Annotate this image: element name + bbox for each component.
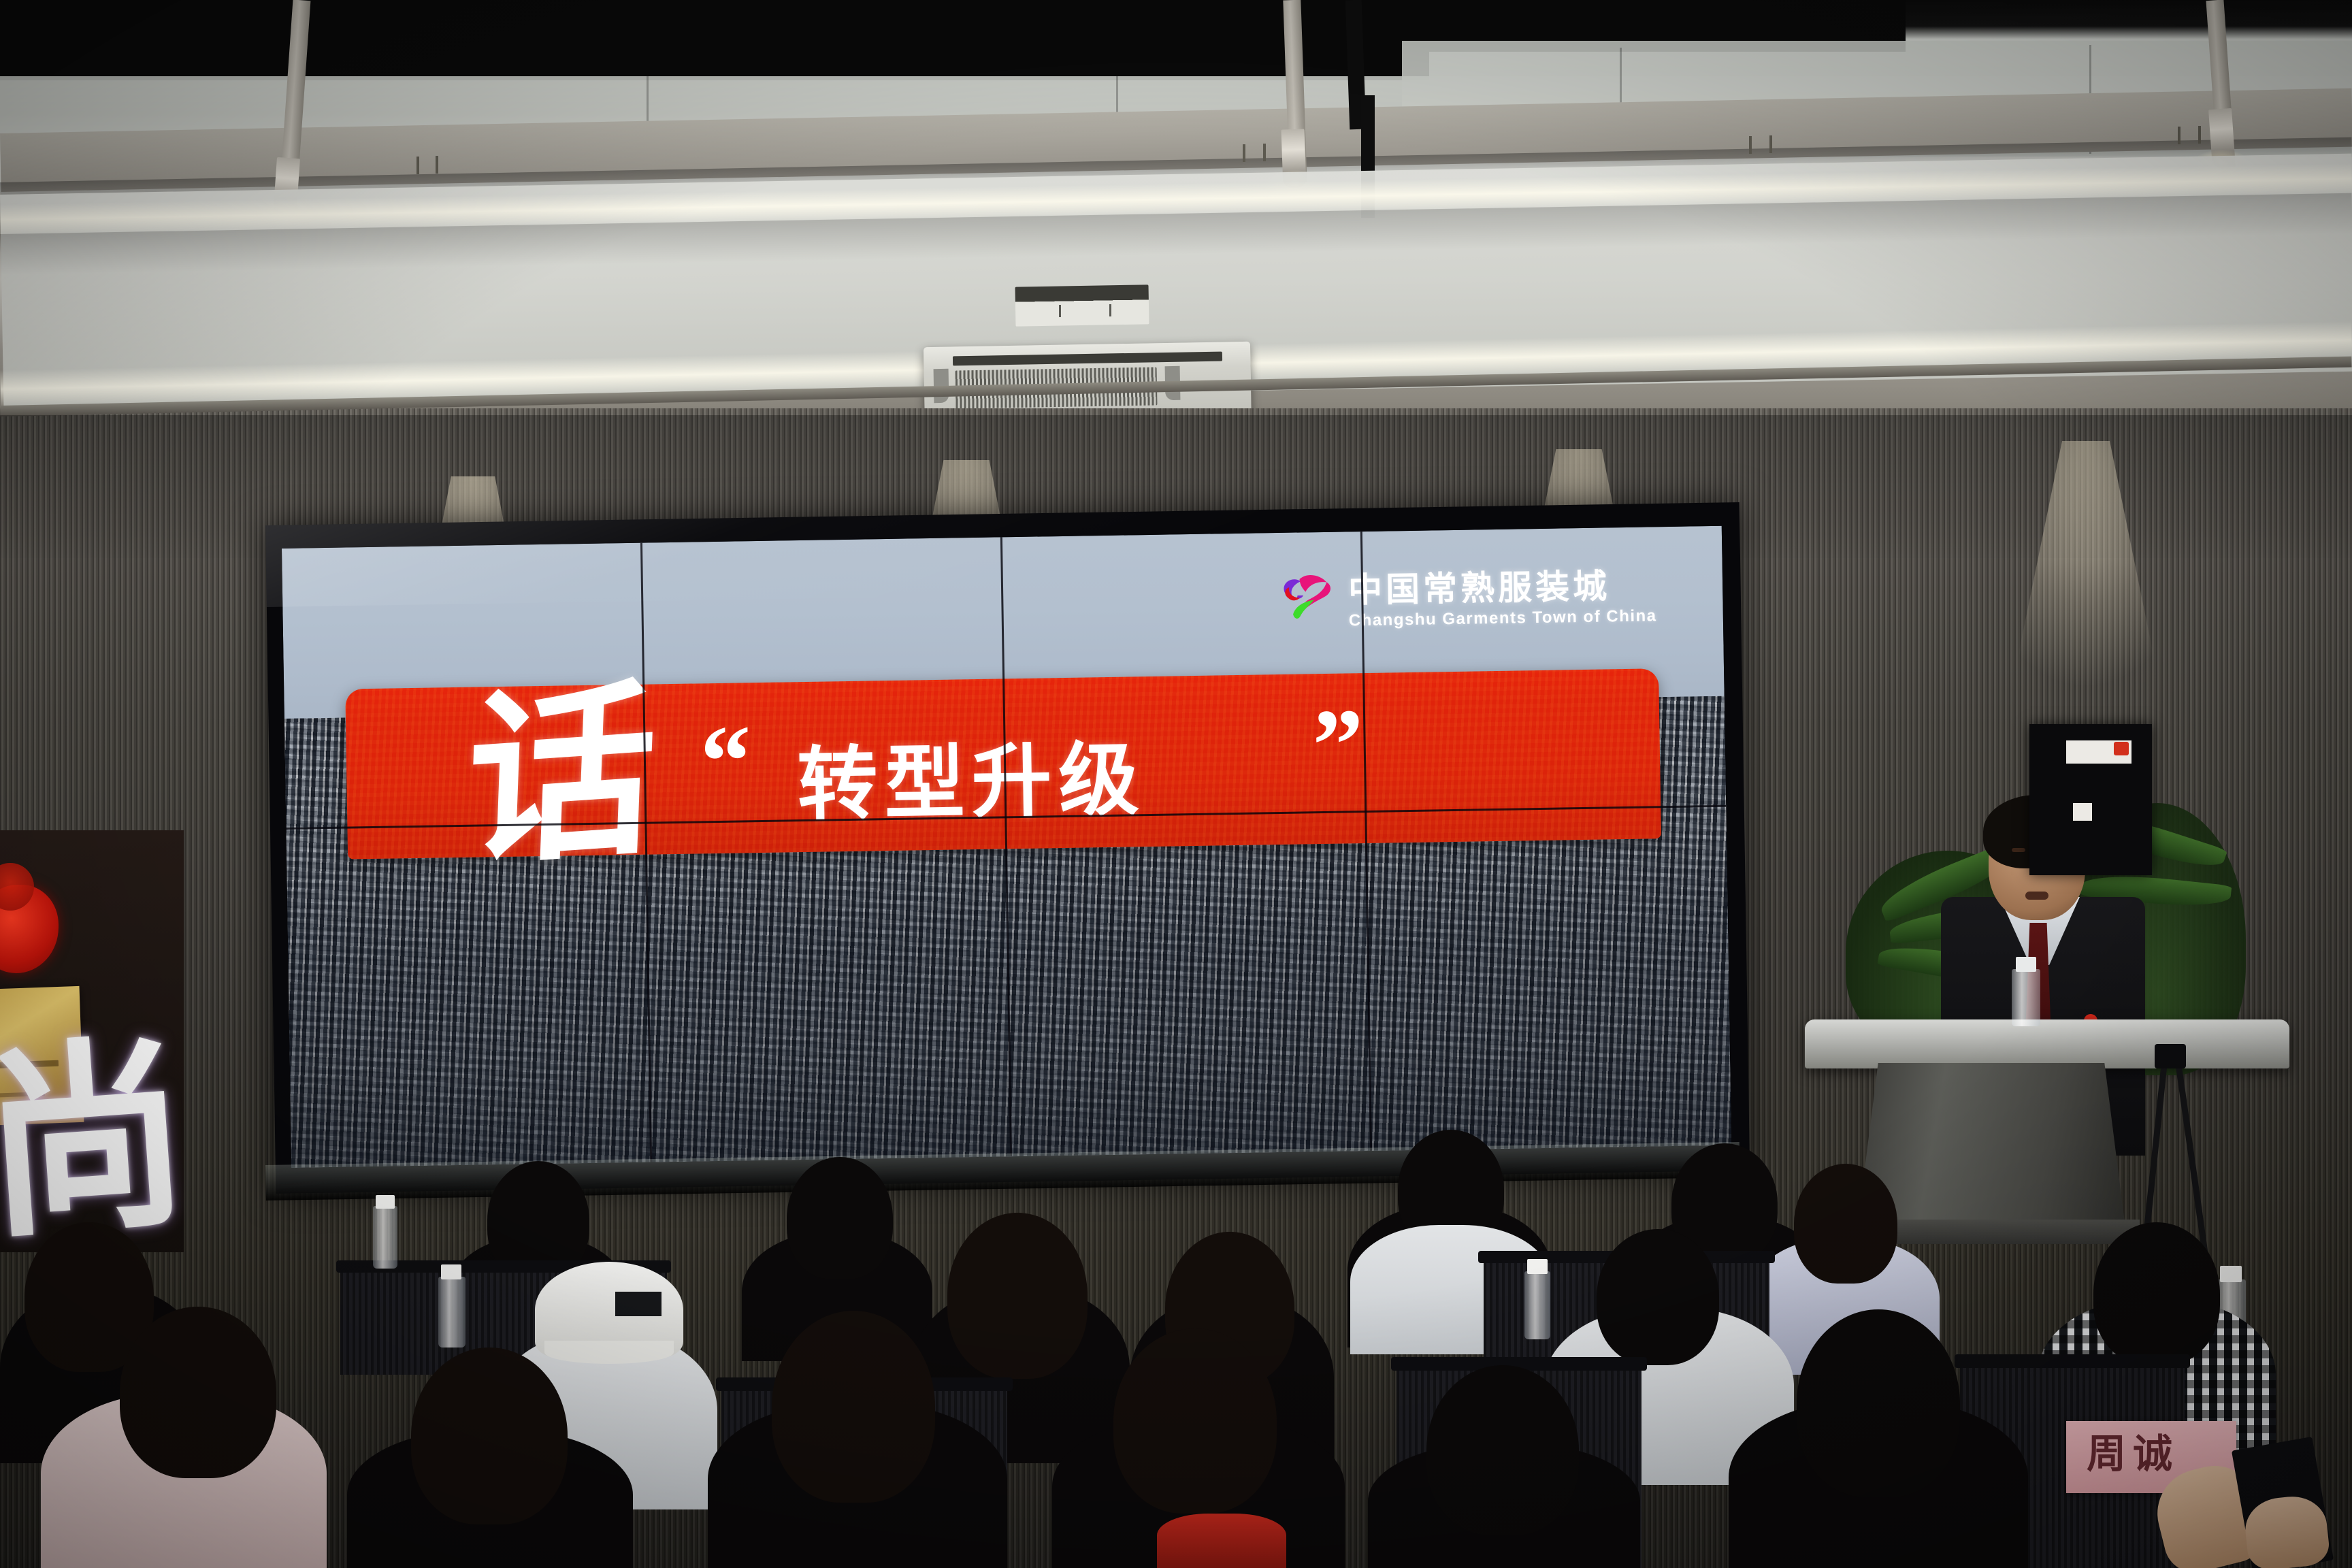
chair-top-rail — [1955, 1354, 2190, 1368]
water-bottle — [1524, 1271, 1550, 1339]
beam-bolt — [416, 157, 419, 174]
beam-bolt — [1243, 144, 1245, 162]
beam-bolt — [1263, 144, 1266, 161]
conference-hall-photo: 中国常熟服装城 Changshu Garments Town of China … — [0, 0, 2352, 1568]
beam-bolt — [1769, 135, 1772, 153]
audience-head — [1797, 1309, 1960, 1497]
audience-red-garment — [1157, 1514, 1286, 1568]
speaker-eye-left — [2012, 848, 2025, 852]
ceiling-slab-dark — [0, 0, 1429, 80]
bottle-cap — [2220, 1266, 2242, 1282]
slide-calligraphy-char: 话 — [464, 683, 659, 868]
beam-bolt — [1749, 136, 1752, 154]
cap-brim — [544, 1341, 674, 1364]
beam-bolt — [436, 156, 438, 174]
water-bottle — [373, 1206, 397, 1269]
slide-quote-open: “ — [700, 723, 752, 799]
beam-bolt — [2178, 127, 2180, 144]
audience-head — [2093, 1222, 2220, 1365]
bottle-cap — [441, 1264, 461, 1279]
audience-head — [947, 1213, 1088, 1379]
ceiling-slot-vent-line-2 — [1109, 304, 1111, 316]
podium-water-bottle — [2012, 969, 2040, 1026]
slide-quote-close: ” — [1312, 707, 1365, 783]
audience-head — [772, 1311, 935, 1503]
ceiling-slot-vent — [1015, 284, 1149, 326]
audience-head — [120, 1307, 276, 1478]
podium-bottle-cap — [2016, 957, 2036, 972]
audience-head — [1597, 1229, 1719, 1365]
audience-head — [1113, 1328, 1277, 1514]
speaker-label-small — [2073, 803, 2092, 821]
audience-area: 周诚 — [0, 1062, 2352, 1568]
audience-head — [787, 1157, 893, 1279]
audience-head — [1794, 1164, 1897, 1284]
bottle-cap — [376, 1195, 395, 1209]
water-bottle — [438, 1277, 465, 1347]
audience-head — [1426, 1365, 1579, 1535]
ceiling-slot-vent-line — [1059, 305, 1061, 317]
cap-logo — [615, 1292, 661, 1316]
audience-head — [411, 1347, 568, 1524]
bottle-cap — [1527, 1259, 1548, 1274]
speaker-mouth — [2025, 892, 2048, 900]
speaker-label-red — [2114, 742, 2129, 755]
beam-bolt — [2198, 126, 2201, 144]
